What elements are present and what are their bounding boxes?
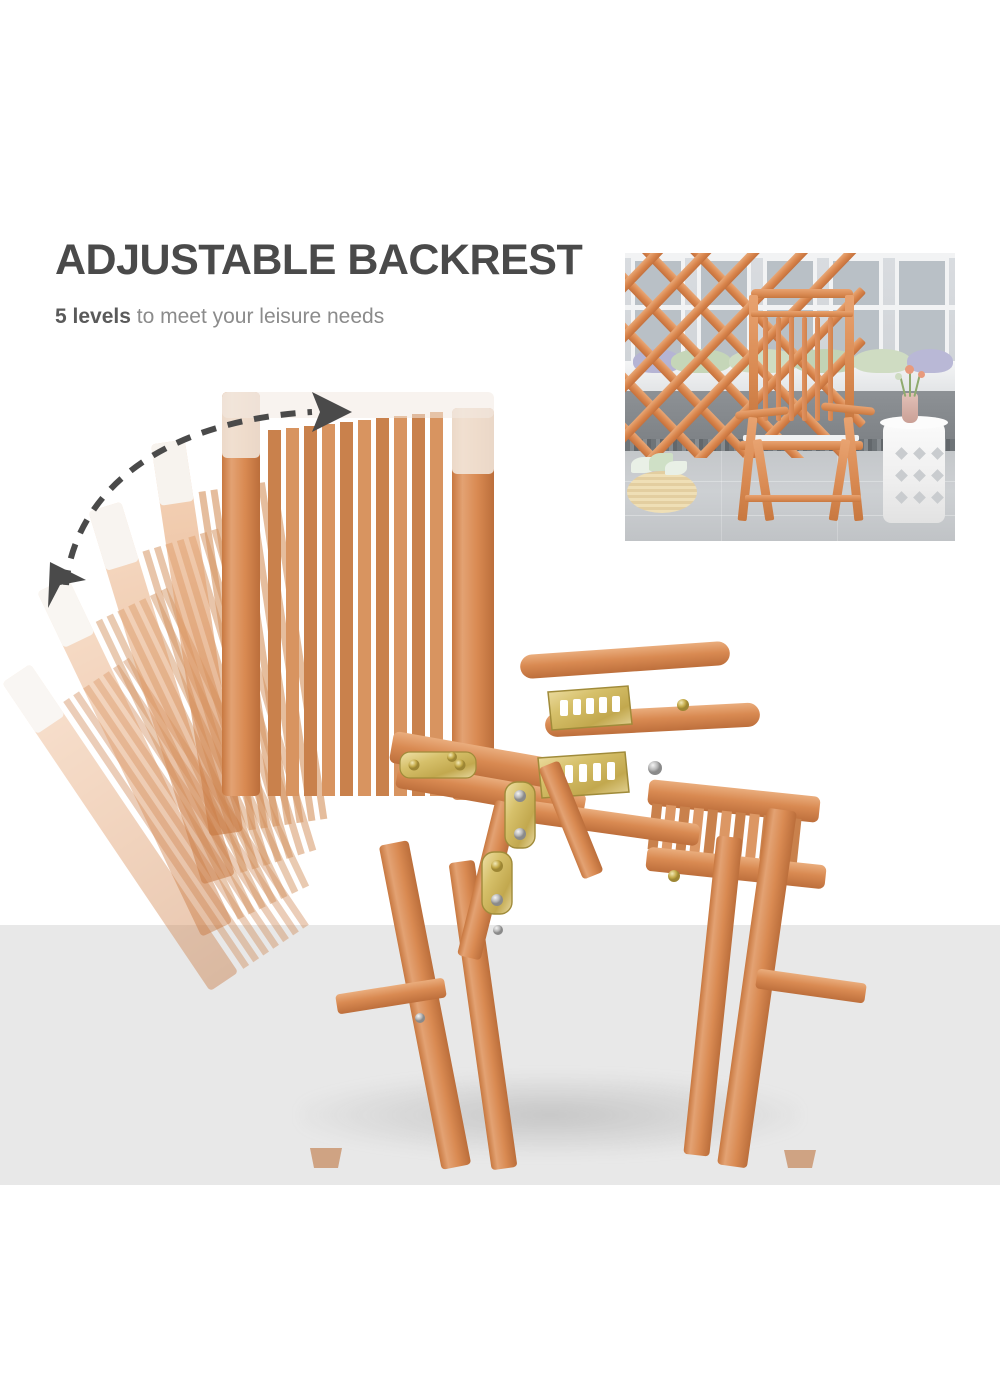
recline-bracket-upper [548,686,632,730]
hinge-plate-secondary [482,852,512,914]
arrow-head-right [312,392,352,432]
arrow-dashed-path [66,412,312,585]
product-illustration [0,0,1000,1400]
hinge-plate-back [400,752,476,778]
hinge-plate-main [505,782,535,848]
chair-svg [0,0,1000,1400]
marketing-banner: ADJUSTABLE BACKREST 5 levels to meet you… [0,0,1000,1400]
armrest-upper [519,641,730,680]
recline-range-arrow [40,380,370,620]
